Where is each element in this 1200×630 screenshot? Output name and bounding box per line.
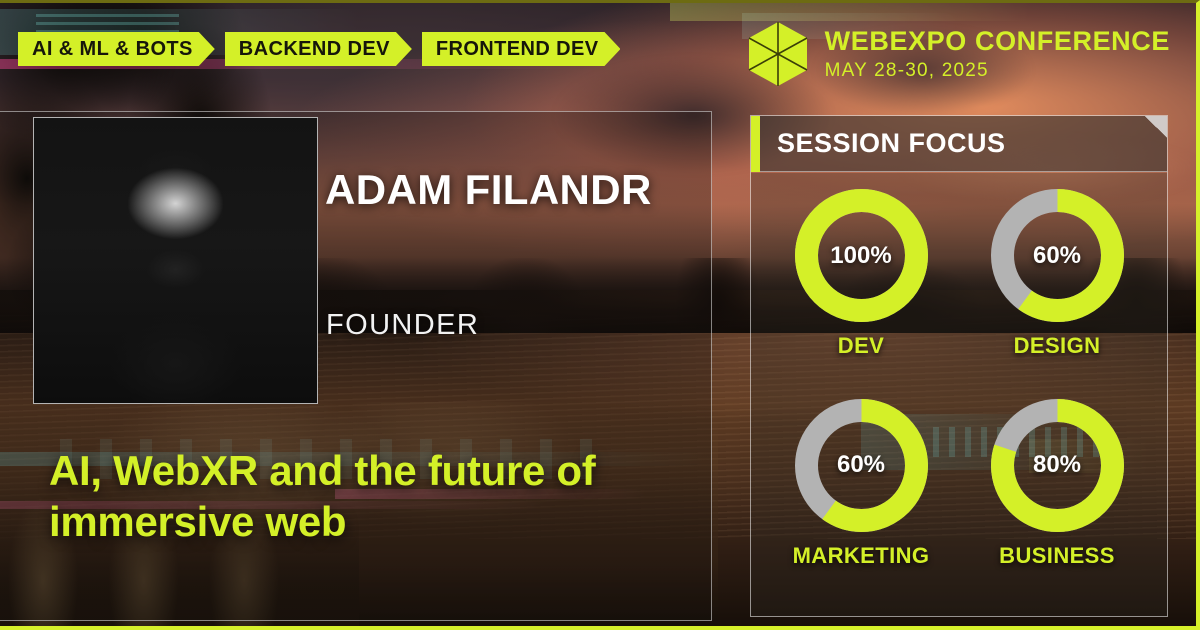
donut-value: 60% [793, 397, 930, 534]
hexagon-cube-logo-icon [747, 21, 809, 87]
header: AI & ML & BOTS BACKEND DEV FRONTEND DEV … [0, 3, 1196, 95]
speaker-photo-frame [33, 117, 318, 404]
speaker-portrait-photo [34, 118, 317, 403]
donut-label: MARKETING [793, 543, 930, 569]
topic-tag-ai-ml-bots[interactable]: AI & ML & BOTS [18, 32, 215, 66]
topic-tag-backend-dev[interactable]: BACKEND DEV [225, 32, 412, 66]
focus-metric-marketing: 60%MARKETING [763, 397, 959, 607]
focus-metric-design: 60%DESIGN [959, 187, 1155, 397]
donut-value: 80% [989, 397, 1126, 534]
topic-tag-frontend-dev[interactable]: FRONTEND DEV [422, 32, 621, 66]
donut-value: 60% [989, 187, 1126, 324]
donut-label: DEV [838, 333, 884, 359]
speaker-name: ADAM FILANDR [325, 166, 652, 214]
topic-tag-list: AI & ML & BOTS BACKEND DEV FRONTEND DEV [18, 32, 620, 66]
donut-chart-design: 60% [989, 187, 1126, 324]
promo-card-canvas: AI & ML & BOTS BACKEND DEV FRONTEND DEV … [0, 0, 1200, 630]
donut-chart-business: 80% [989, 397, 1126, 534]
accent-bar [751, 116, 760, 172]
donut-label: BUSINESS [999, 543, 1115, 569]
conference-date: MAY 28-30, 2025 [825, 61, 1170, 80]
donut-chart-marketing: 60% [793, 397, 930, 534]
talk-title: AI, WebXR and the future of immersive we… [49, 445, 669, 547]
focus-metric-business: 80%BUSINESS [959, 397, 1155, 607]
brand-text: WEBEXPO CONFERENCE MAY 28-30, 2025 [825, 28, 1170, 80]
corner-notch-icon [1145, 116, 1167, 138]
donut-chart-dev: 100% [793, 187, 930, 324]
conference-title: WEBEXPO CONFERENCE [825, 28, 1170, 55]
session-focus-panel: SESSION FOCUS 100%DEV60%DESIGN60%MARKETI… [750, 115, 1168, 617]
donut-value: 100% [793, 187, 930, 324]
speaker-card: ADAM FILANDR FOUNDER AI, WebXR and the f… [0, 111, 712, 621]
speaker-role: FOUNDER [326, 309, 479, 342]
session-focus-header: SESSION FOCUS [751, 116, 1167, 172]
donut-label: DESIGN [1014, 333, 1101, 359]
session-focus-title: SESSION FOCUS [777, 128, 1006, 159]
focus-metric-dev: 100%DEV [763, 187, 959, 397]
session-focus-metrics: 100%DEV60%DESIGN60%MARKETING80%BUSINESS [751, 173, 1167, 616]
brand-block: WEBEXPO CONFERENCE MAY 28-30, 2025 [747, 21, 1170, 87]
